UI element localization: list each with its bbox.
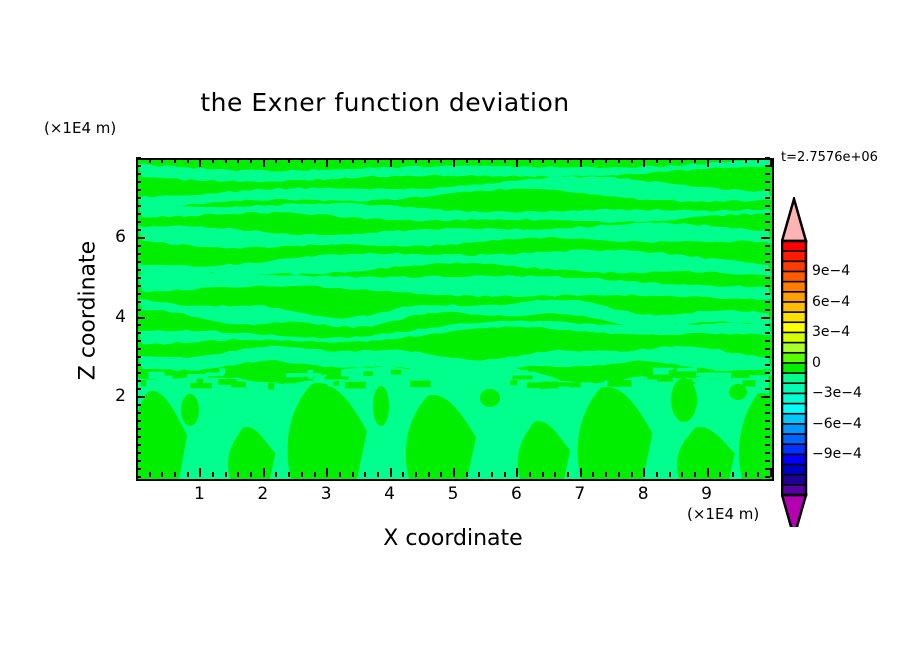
page-title: the Exner function deviation xyxy=(0,88,770,117)
x-axis-tick xyxy=(504,472,506,477)
y-axis-tick xyxy=(765,261,770,263)
y-axis-tick xyxy=(136,332,141,334)
x-axis-tick xyxy=(275,158,277,163)
x-axis-tick xyxy=(212,472,214,477)
x-axis-tick xyxy=(770,158,772,167)
y-axis-tick xyxy=(136,309,141,311)
contour-speckle xyxy=(513,376,533,380)
x-axis-tick xyxy=(707,158,709,167)
y-axis-tick xyxy=(765,221,770,223)
colorbar-band xyxy=(782,312,806,323)
colorbar-band xyxy=(782,465,806,476)
contour-speckle xyxy=(268,383,274,390)
y-axis-tick xyxy=(136,324,141,326)
y-axis-tick xyxy=(136,277,141,279)
x-axis-tick xyxy=(453,158,455,167)
y-axis-tick xyxy=(136,372,141,374)
y-axis-tick xyxy=(765,253,770,255)
y-axis-tick xyxy=(761,396,770,398)
y-axis-tick xyxy=(136,428,141,430)
x-axis-tick xyxy=(440,158,442,163)
colorbar-band xyxy=(782,454,806,465)
x-axis-tick xyxy=(364,472,366,477)
colorbar-band xyxy=(782,393,806,404)
z-axis-title: Z coordinate xyxy=(76,201,101,421)
y-axis-tick xyxy=(136,436,141,438)
colorbar-band xyxy=(782,322,806,333)
x-axis-tick xyxy=(199,158,201,167)
contour-band xyxy=(138,203,772,223)
y-axis-tick xyxy=(761,317,770,319)
x-axis-tick xyxy=(187,472,189,477)
x-axis-tick xyxy=(681,158,683,163)
y-axis-tick xyxy=(765,380,770,382)
colorbar-band xyxy=(782,282,806,293)
x-axis-tick xyxy=(466,472,468,477)
y-axis-tick xyxy=(765,197,770,199)
contour-speckle xyxy=(187,374,208,378)
x-axis-tick xyxy=(618,472,620,477)
contour-band xyxy=(138,222,772,248)
x-axis-tick xyxy=(428,158,430,163)
contour-speckle xyxy=(527,382,545,388)
x-axis-tick xyxy=(567,158,569,163)
contour-speckle xyxy=(364,372,373,376)
y-axis-tick xyxy=(765,293,770,295)
x-axis-tick xyxy=(453,468,455,477)
x-axis-tick xyxy=(314,472,316,477)
contour-speckle xyxy=(212,381,217,384)
x-axis-tick xyxy=(440,472,442,477)
y-axis-tick xyxy=(136,213,141,215)
x-axis-tick xyxy=(491,472,493,477)
x-axis-tick xyxy=(263,468,265,477)
x-axis-tick xyxy=(656,158,658,163)
colorbar-band xyxy=(782,353,806,364)
x-axis-tick xyxy=(288,158,290,163)
x-axis-tick xyxy=(402,158,404,163)
y-axis-tick xyxy=(136,412,141,414)
x-axis-tick xyxy=(757,158,759,163)
x-axis-tick xyxy=(491,158,493,163)
y-axis-tick-label: 4 xyxy=(100,307,126,327)
y-axis-tick xyxy=(765,468,770,470)
contour-band xyxy=(138,299,772,328)
contour-band xyxy=(138,176,772,210)
contour-island xyxy=(373,386,389,426)
contour-field xyxy=(138,160,772,479)
x-axis-tick xyxy=(415,472,417,477)
x-axis-tick xyxy=(554,158,556,163)
colorbar-band xyxy=(782,383,806,394)
y-axis-tick xyxy=(765,364,770,366)
x-axis-tick-label: 7 xyxy=(565,484,595,504)
y-axis-tick xyxy=(765,372,770,374)
x-axis-tick xyxy=(592,472,594,477)
contour-speckle xyxy=(669,370,676,376)
y-axis-tick xyxy=(765,309,770,311)
y-axis-tick xyxy=(136,452,141,454)
colorbar-band xyxy=(782,424,806,435)
x-axis-tick xyxy=(719,158,721,163)
y-axis-tick xyxy=(136,340,141,342)
y-axis-tick xyxy=(136,221,141,223)
colorbar-band xyxy=(782,475,806,486)
y-axis-tick xyxy=(136,261,141,263)
x-axis-tick xyxy=(390,468,392,477)
y-axis-tick xyxy=(765,428,770,430)
x-axis-tick xyxy=(149,158,151,163)
x-axis-tick xyxy=(567,472,569,477)
y-axis-tick xyxy=(765,213,770,215)
contour-speckle xyxy=(391,370,401,375)
x-axis-tick xyxy=(415,158,417,163)
x-axis-tick-label: 2 xyxy=(248,484,278,504)
x-axis-tick xyxy=(390,158,392,167)
y-axis-tick xyxy=(765,348,770,350)
contour-speckle xyxy=(197,379,203,388)
colorbar-band xyxy=(782,241,806,252)
x-axis-tick-label: 5 xyxy=(438,484,468,504)
x-axis-tick xyxy=(694,472,696,477)
x-axis-tick xyxy=(542,472,544,477)
colorbar-tick-label: 0 xyxy=(812,355,821,371)
colorbar xyxy=(781,197,901,527)
colorbar-over-cap xyxy=(782,199,806,241)
contour-speckle xyxy=(345,382,366,389)
x-axis-tick xyxy=(377,158,379,163)
x-axis-tick xyxy=(605,158,607,163)
contour-speckle xyxy=(510,380,517,385)
x-axis-tick xyxy=(643,158,645,167)
contour-speckle xyxy=(277,378,297,383)
colorbar-band xyxy=(782,251,806,262)
colorbar-band xyxy=(782,404,806,415)
x-axis-tick xyxy=(174,472,176,477)
colorbar-tick-label: −9e−4 xyxy=(812,446,862,462)
y-axis-tick xyxy=(765,332,770,334)
x-axis-tick xyxy=(199,468,201,477)
y-axis-tick xyxy=(765,181,770,183)
x-axis-tick xyxy=(466,158,468,163)
x-axis-unit-label: (×1E4 m) xyxy=(687,505,759,523)
x-axis-tick xyxy=(605,472,607,477)
y-axis-tick xyxy=(136,293,141,295)
y-axis-tick xyxy=(765,436,770,438)
y-axis-tick xyxy=(765,189,770,191)
x-axis-tick xyxy=(377,472,379,477)
figure-canvas: the Exner function deviation (×1E4 m) (×… xyxy=(0,0,904,654)
x-axis-tick xyxy=(212,158,214,163)
contour-speckle xyxy=(537,369,553,373)
y-axis-tick xyxy=(136,173,141,175)
contour-speckle xyxy=(743,380,756,386)
contour-speckle xyxy=(570,382,581,387)
x-axis-tick xyxy=(669,158,671,163)
contour-speckle xyxy=(601,373,624,379)
contour-speckle xyxy=(370,378,386,383)
x-axis-tick xyxy=(402,472,404,477)
contour-speckle xyxy=(503,370,528,375)
colorbar-band xyxy=(782,332,806,343)
y-axis-tick xyxy=(765,444,770,446)
x-axis-tick xyxy=(250,158,252,163)
colorbar-tick-label: −6e−4 xyxy=(812,416,862,432)
colorbar-tick-label: 6e−4 xyxy=(812,294,850,310)
y-axis-tick xyxy=(765,301,770,303)
colorbar-band xyxy=(782,343,806,354)
contour-speckle xyxy=(474,369,499,377)
x-axis-tick xyxy=(669,472,671,477)
y-axis-tick xyxy=(765,205,770,207)
contour-speckle xyxy=(265,377,275,382)
y-axis-tick xyxy=(765,452,770,454)
contour-speckle xyxy=(410,381,430,388)
y-axis-tick xyxy=(136,356,141,358)
y-axis-tick xyxy=(136,181,141,183)
colorbar-band xyxy=(782,373,806,384)
x-axis-title: X coordinate xyxy=(136,526,770,551)
y-axis-tick-label: 2 xyxy=(100,386,126,406)
y-axis-tick xyxy=(136,269,141,271)
y-axis-tick xyxy=(765,476,770,478)
contour-speckle xyxy=(431,379,454,387)
colorbar-band xyxy=(782,302,806,313)
contour-island xyxy=(480,389,500,407)
y-axis-tick xyxy=(136,165,141,167)
y-axis-tick xyxy=(765,157,770,159)
y-axis-tick xyxy=(765,388,770,390)
y-axis-tick xyxy=(136,460,141,462)
x-axis-tick xyxy=(478,472,480,477)
x-axis-tick xyxy=(732,158,734,163)
colorbar-band xyxy=(782,363,806,374)
y-axis-tick xyxy=(765,420,770,422)
x-axis-tick xyxy=(643,468,645,477)
colorbar-band xyxy=(782,434,806,445)
x-axis-tick xyxy=(681,472,683,477)
x-axis-tick xyxy=(352,158,354,163)
x-axis-tick xyxy=(428,472,430,477)
x-axis-tick xyxy=(516,158,518,167)
x-axis-tick xyxy=(504,158,506,163)
x-axis-tick xyxy=(529,472,531,477)
x-axis-tick xyxy=(288,472,290,477)
colorbar-band xyxy=(782,444,806,455)
x-axis-tick xyxy=(745,158,747,163)
y-axis-tick xyxy=(136,396,145,398)
y-axis-tick xyxy=(136,388,141,390)
x-axis-tick xyxy=(618,158,620,163)
y-axis-tick xyxy=(136,229,141,231)
y-axis-tick xyxy=(765,412,770,414)
x-axis-tick xyxy=(263,158,265,167)
colorbar-under-cap xyxy=(782,495,806,527)
x-axis-tick xyxy=(580,158,582,167)
x-axis-tick xyxy=(352,472,354,477)
x-axis-tick xyxy=(478,158,480,163)
y-axis-tick xyxy=(765,356,770,358)
colorbar-band xyxy=(782,261,806,272)
contour-speckle xyxy=(457,381,473,387)
x-axis-tick xyxy=(732,472,734,477)
x-axis-tick xyxy=(529,158,531,163)
x-axis-tick xyxy=(656,472,658,477)
y-axis-tick xyxy=(765,324,770,326)
x-axis-tick xyxy=(237,158,239,163)
x-axis-tick xyxy=(161,472,163,477)
y-axis-tick xyxy=(136,476,141,478)
y-axis-tick xyxy=(136,420,141,422)
x-axis-tick xyxy=(694,158,696,163)
x-axis-tick-label: 3 xyxy=(311,484,341,504)
contour-speckle xyxy=(286,373,304,377)
contour-speckle xyxy=(731,375,749,378)
x-axis-tick xyxy=(149,472,151,477)
y-axis-tick xyxy=(136,364,141,366)
y-axis-tick xyxy=(136,157,141,159)
y-axis-tick xyxy=(136,468,141,470)
contour-band xyxy=(138,272,772,301)
x-axis-tick xyxy=(554,472,556,477)
y-axis-tick-label: 6 xyxy=(100,227,126,247)
y-axis-tick xyxy=(761,237,770,239)
contour-speckle xyxy=(614,380,621,384)
contour-island xyxy=(181,394,199,426)
contour-speckle xyxy=(333,381,339,386)
y-axis-tick xyxy=(765,245,770,247)
contour-speckle xyxy=(677,368,697,372)
y-axis-tick xyxy=(136,285,141,287)
x-axis-tick xyxy=(631,158,633,163)
x-axis-tick xyxy=(314,158,316,163)
x-axis-tick xyxy=(580,468,582,477)
y-axis-tick xyxy=(136,197,141,199)
colorbar-band xyxy=(782,271,806,282)
x-axis-tick xyxy=(707,468,709,477)
y-axis-tick xyxy=(765,173,770,175)
x-axis-tick xyxy=(339,158,341,163)
x-axis-tick xyxy=(225,472,227,477)
x-axis-tick-label: 8 xyxy=(628,484,658,504)
x-axis-tick xyxy=(757,472,759,477)
colorbar-tick-label: 3e−4 xyxy=(812,324,850,340)
x-axis-tick xyxy=(237,472,239,477)
x-axis-tick xyxy=(161,158,163,163)
contour-band xyxy=(138,160,772,182)
x-axis-tick xyxy=(326,468,328,477)
y-axis-tick xyxy=(136,237,145,239)
timestamp-label: t=2.7576e+06 xyxy=(781,150,878,165)
x-axis-tick xyxy=(770,468,772,477)
x-axis-tick xyxy=(187,158,189,163)
x-axis-tick-label: 6 xyxy=(501,484,531,504)
x-axis-tick xyxy=(250,472,252,477)
colorbar-band xyxy=(782,292,806,303)
y-axis-tick xyxy=(136,380,141,382)
y-axis-tick xyxy=(136,348,141,350)
colorbar-band xyxy=(782,414,806,425)
contour-speckle xyxy=(271,369,280,377)
x-axis-tick xyxy=(719,472,721,477)
y-axis-tick xyxy=(136,189,141,191)
y-axis-unit-label: (×1E4 m) xyxy=(44,119,116,137)
x-axis-tick xyxy=(275,472,277,477)
y-axis-tick xyxy=(765,165,770,167)
contour-speckle xyxy=(693,378,707,382)
x-axis-tick xyxy=(631,472,633,477)
y-axis-tick xyxy=(765,277,770,279)
x-axis-tick xyxy=(364,158,366,163)
x-axis-tick xyxy=(592,158,594,163)
x-axis-tick-label: 9 xyxy=(692,484,722,504)
y-axis-tick xyxy=(136,245,141,247)
y-axis-tick xyxy=(136,253,141,255)
contour-plot-area xyxy=(136,158,774,481)
x-axis-tick xyxy=(301,158,303,163)
y-axis-tick xyxy=(136,205,141,207)
x-axis-tick xyxy=(516,468,518,477)
y-axis-tick xyxy=(136,444,141,446)
y-axis-tick xyxy=(136,301,141,303)
y-axis-tick xyxy=(765,460,770,462)
y-axis-tick xyxy=(765,229,770,231)
y-axis-tick xyxy=(765,340,770,342)
x-axis-tick xyxy=(542,158,544,163)
contour-speckle xyxy=(428,373,449,379)
x-axis-tick xyxy=(745,472,747,477)
x-axis-tick xyxy=(339,472,341,477)
x-axis-tick xyxy=(225,158,227,163)
y-axis-tick xyxy=(765,285,770,287)
colorbar-tick-label: −3e−4 xyxy=(812,385,862,401)
contour-speckle xyxy=(149,372,165,379)
x-axis-tick xyxy=(326,158,328,167)
y-axis-tick xyxy=(136,317,145,319)
contour-speckle xyxy=(633,379,657,382)
x-axis-tick-label: 4 xyxy=(375,484,405,504)
contour-speckle xyxy=(231,382,246,388)
contour-speckle xyxy=(696,373,721,376)
contour-speckle xyxy=(141,380,147,386)
x-axis-tick xyxy=(301,472,303,477)
x-axis-tick-label: 1 xyxy=(184,484,214,504)
x-axis-tick xyxy=(174,158,176,163)
colorbar-tick-label: 9e−4 xyxy=(812,263,850,279)
contour-island xyxy=(671,378,697,422)
y-axis-tick xyxy=(136,404,141,406)
y-axis-tick xyxy=(765,404,770,406)
y-axis-tick xyxy=(765,269,770,271)
contour-speckle xyxy=(327,370,341,377)
